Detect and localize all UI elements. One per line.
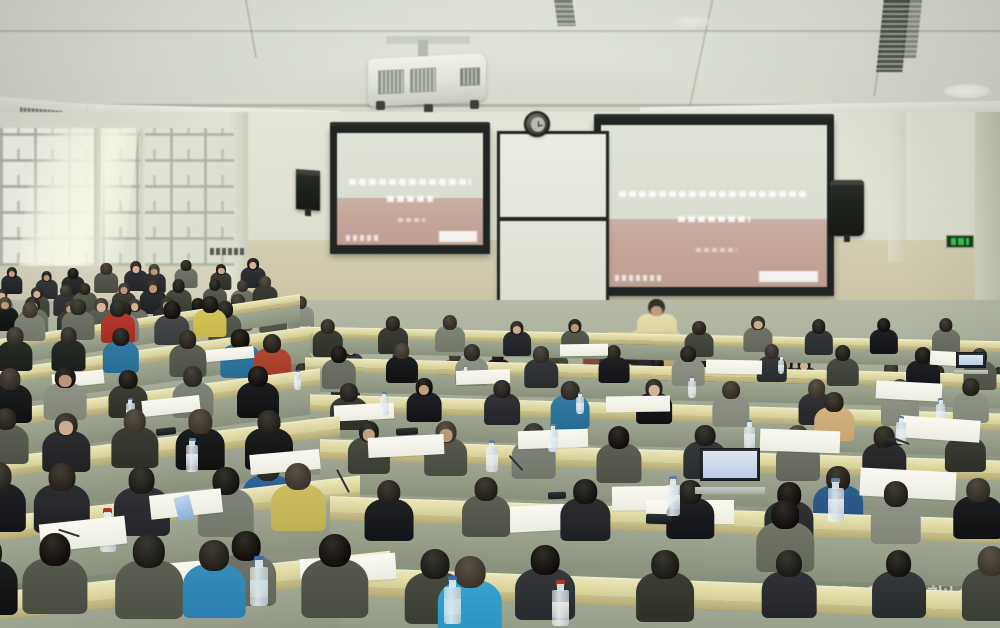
audience-head [189,409,212,433]
right-wall-speaker [830,180,864,236]
audience-head [110,300,126,317]
audience-member [364,480,413,547]
audience-torso [945,437,985,472]
audience-head [533,346,549,363]
audience-torso [871,501,922,545]
audience-head [209,279,221,291]
audience-member [961,546,1000,628]
open-laptop [956,352,986,374]
audience-face [43,275,50,282]
audience-torso [183,564,246,618]
paper-notebook [876,380,943,401]
paper-notebook [760,429,841,454]
audience-torso [271,484,325,531]
audience-head [651,550,679,579]
audience-head [179,330,197,349]
audience-head [977,546,1000,576]
audience-head [22,302,37,318]
audience-member [111,409,158,474]
audience-head [443,315,457,330]
audience-head [695,425,716,447]
audience-head [608,426,630,449]
audience-torso [561,498,610,541]
audience-head [331,346,347,363]
audience-head [771,500,799,529]
audience-member [115,534,183,627]
projector-mount-plate [386,36,470,44]
audience-member [462,477,510,543]
audience-member [301,534,368,626]
audience-head [966,478,990,503]
slide-logo [615,275,665,281]
audience-head [128,466,155,494]
lecture-hall-photo: @ 千目视角 [0,0,1000,628]
audience-head [257,410,280,434]
emergency-exit-sign [946,235,974,248]
audience-torso [364,499,413,542]
audience-head [722,381,740,400]
audience-head [202,296,218,313]
audience-torso [103,341,139,373]
audience-head [263,334,281,353]
audience-head [884,481,908,506]
audience-member [271,463,325,538]
lattice-window-wall [0,128,234,266]
water-bottle [250,556,268,606]
audience-torso [484,393,520,424]
audience-head [835,345,851,361]
audience-torso [176,428,225,470]
audience-head [123,409,146,433]
left-wall-speaker [296,169,320,211]
right-projection-screen [594,118,834,296]
audience-member [561,479,610,546]
audience-member [484,380,520,429]
audience-face [571,324,579,332]
audience-head [812,319,826,333]
paper-notebook [560,344,608,357]
audience-head [680,346,696,362]
audience-head [886,550,912,577]
audience-torso [953,496,1000,539]
audience-head [248,366,268,387]
audience-torso [407,392,442,422]
audience-head [340,383,358,402]
audience-face [513,326,521,334]
audience-head [39,533,70,566]
wall-clock [524,111,550,137]
audience-torso [22,558,87,615]
audience-member [872,550,926,624]
audience-member [871,481,922,550]
projector-lens-icon [460,67,480,86]
audience-head [825,392,844,412]
ceiling-light [672,16,712,27]
ceiling [0,0,1000,118]
audience-head [320,319,335,334]
slide-subtitle-text [387,196,434,202]
audience-head [119,370,138,389]
audience-face [419,385,429,395]
audience-torso [636,572,694,622]
audience-head [285,463,311,490]
water-bottle [688,376,696,398]
audience-torso [961,568,1000,620]
audience-head [237,280,249,292]
audience-face [1,302,9,310]
audience-member [407,378,442,426]
audience-torso [0,425,28,464]
audience-torso [115,560,183,619]
audience-head [48,463,75,491]
audience-face [120,287,127,294]
paper-notebook [706,360,762,375]
audience-torso [0,560,18,615]
audience-head [692,321,706,335]
audience-member [0,537,18,623]
audience-head [60,285,72,298]
audience-torso [0,483,26,532]
audience-member [762,550,817,625]
water-bottle [552,580,569,626]
audience-head [7,327,24,345]
audience-head [70,299,86,315]
audience-face [132,266,139,273]
slide-logo [346,235,378,241]
audience-head [164,301,181,319]
water-bottle [666,476,680,516]
audience-face [59,421,73,435]
audience-head [764,344,779,359]
slide-subtitle-text [678,216,750,222]
audience-torso [870,329,898,354]
open-laptop [700,448,760,494]
audience-face [649,385,660,395]
slide-title-text [349,179,472,185]
audience-head [79,283,90,295]
slide-title-text [619,191,809,197]
audience-member [870,318,898,357]
ceiling-vent-icon [554,0,576,26]
audience-head [133,534,165,568]
audience-member [0,462,26,539]
ceiling-projector [368,53,486,107]
presenter-face [651,306,662,316]
left-projection-screen [330,126,490,254]
audience-torso [596,443,641,482]
paper-notebook [368,434,445,458]
water-bottle [444,576,461,624]
audience-head [101,263,112,275]
audience-torso [598,357,629,384]
audience-torso [462,495,510,537]
center-whiteboard [497,131,609,303]
audience-torso [762,571,817,619]
audience-head [183,366,203,387]
audience-head [172,279,185,292]
audience-head [68,268,79,279]
audience-head [199,540,229,571]
audience-head [0,368,21,390]
audience-member [953,478,1000,546]
audience-head [60,327,77,344]
audience-face [151,269,158,276]
water-bottle [744,420,755,450]
audience-face [754,321,763,329]
water-bottle [294,370,301,390]
audience-head [494,380,511,398]
audience-head [319,534,351,568]
audience-head [877,318,891,332]
water-bottle [576,392,584,414]
audience-member [22,533,87,622]
wall-pillar [888,112,906,262]
audience-head [776,550,802,577]
paper-notebook [606,395,670,412]
audience-face [59,375,72,387]
audience-head [962,378,979,396]
mobile-phone [396,427,418,435]
audience-head [531,545,560,575]
audience-torso [872,571,926,618]
water-bottle [828,478,844,522]
audience-head [112,328,129,346]
audience-head [939,318,952,332]
audience-head [606,345,621,360]
audience-member [0,408,28,469]
audience-head [386,316,400,331]
audience-head [377,480,400,504]
audience-member [636,550,694,628]
audience-head [574,479,598,504]
audience-head [259,276,271,288]
audience-head [394,343,409,359]
audience-torso [301,559,368,618]
audience-torso [111,427,158,468]
audience-head [181,260,192,271]
water-bottle [778,356,784,374]
water-bottle [486,440,498,472]
audience-head [475,477,498,501]
audience-face [149,285,157,293]
wall-sign [210,248,246,255]
water-bottle [380,392,389,416]
water-bottle [548,424,558,452]
audience-head [464,344,480,361]
audience-member [183,540,246,626]
ceiling-light [944,84,990,98]
